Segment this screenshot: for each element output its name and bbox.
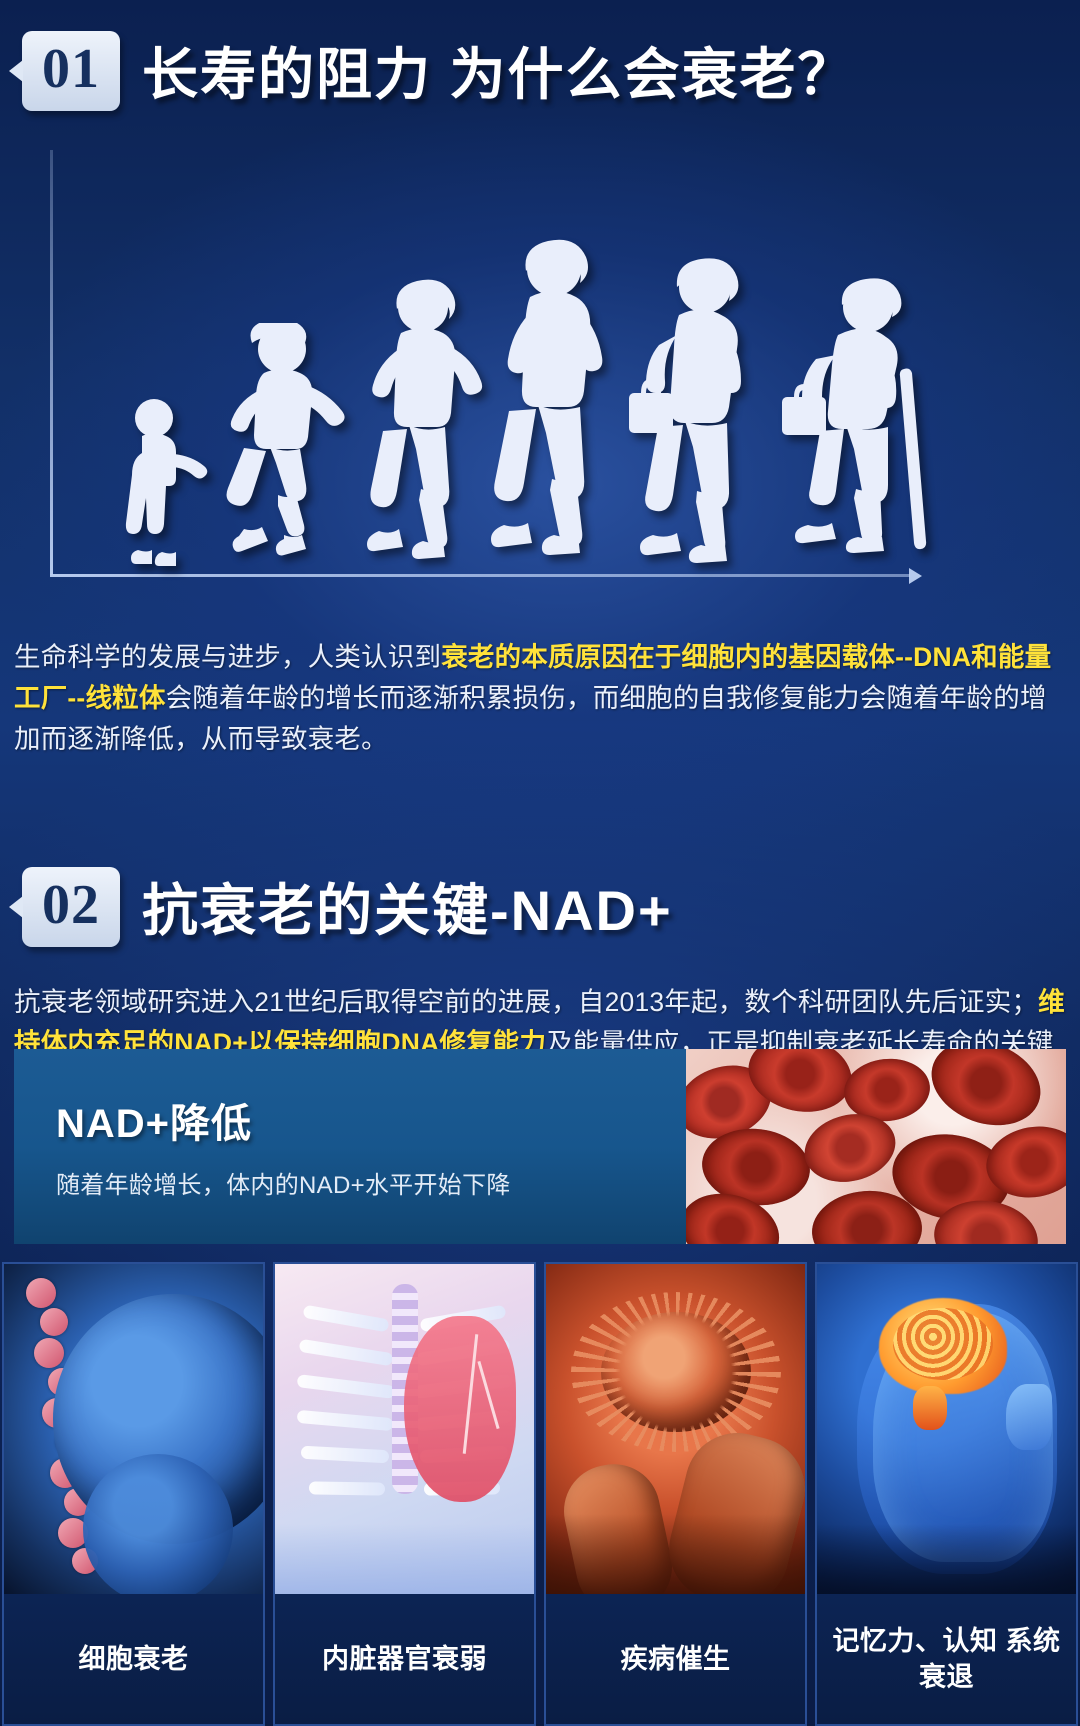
brain-head-image	[817, 1264, 1076, 1594]
section-02-header: 02 抗衰老的关键-NAD+	[22, 866, 673, 947]
aging-progression-chart	[42, 150, 902, 595]
tile-label-cognitive-decline: 记忆力、认知 系统衰退	[817, 1594, 1076, 1724]
chart-y-axis	[50, 150, 53, 575]
silhouette-middle-aged	[627, 253, 787, 573]
tile-label-cell-aging: 细胞衰老	[4, 1594, 263, 1724]
nad-card-title: NAD+降低	[56, 1091, 686, 1149]
consequence-tile-row: 细胞衰老 内脏器官衰弱	[0, 1262, 1080, 1726]
tile-organ-weakening[interactable]: 内脏器官衰弱	[273, 1262, 536, 1726]
nad-card-text: NAD+降低 随着年龄增长，体内的NAD+水平开始下降	[14, 1049, 686, 1244]
silhouette-child	[222, 323, 362, 573]
tile-cognitive-decline[interactable]: 记忆力、认知 系统衰退	[815, 1262, 1078, 1726]
red-blood-cells-image	[686, 1049, 1066, 1244]
aging-cell-image	[4, 1264, 263, 1594]
nad-decline-card: NAD+降低 随着年龄增长，体内的NAD+水平开始下降	[14, 1049, 1066, 1244]
silhouette-teen	[357, 273, 497, 573]
section-title-02: 抗衰老的关键-NAD+	[142, 866, 673, 947]
chart-x-axis	[50, 574, 910, 577]
para01-lead: 生命科学的发展与进步，人类认识到	[14, 642, 441, 672]
silhouette-toddler	[112, 398, 222, 573]
tile-label-organ-weakening: 内脏器官衰弱	[275, 1594, 534, 1724]
section-01-paragraph: 生命科学的发展与进步，人类认识到衰老的本质原因在于细胞内的基因载体--DNA和能…	[14, 637, 1066, 760]
virus-image	[546, 1264, 805, 1594]
tile-cell-aging[interactable]: 细胞衰老	[2, 1262, 265, 1726]
silhouette-adult	[482, 233, 642, 573]
section-number-badge-02: 02	[22, 867, 120, 947]
nad-card-subtitle: 随着年龄增长，体内的NAD+水平开始下降	[56, 1165, 686, 1200]
silhouette-elderly	[772, 273, 947, 573]
tile-disease-onset[interactable]: 疾病催生	[544, 1262, 807, 1726]
human-silhouette-group	[82, 163, 902, 573]
para01-tail: 会随着年龄的增长而逐渐积累损伤，而细胞的自我修复能力会随着年龄的增加而逐渐降低，…	[14, 683, 1047, 754]
tile-label-disease-onset: 疾病催生	[546, 1594, 805, 1724]
section-title-01: 长寿的阻力 为什么会衰老？	[142, 30, 856, 111]
internal-organs-image	[275, 1264, 534, 1594]
infographic-page: 01 长寿的阻力 为什么会衰老？	[0, 0, 1080, 1726]
para02-lead: 抗衰老领域研究进入21世纪后取得空前的进展，自2013年起，数个科研团队先后证实…	[14, 987, 1038, 1017]
section-01-header: 01 长寿的阻力 为什么会衰老？	[22, 30, 856, 111]
section-number-badge-01: 01	[22, 31, 120, 111]
